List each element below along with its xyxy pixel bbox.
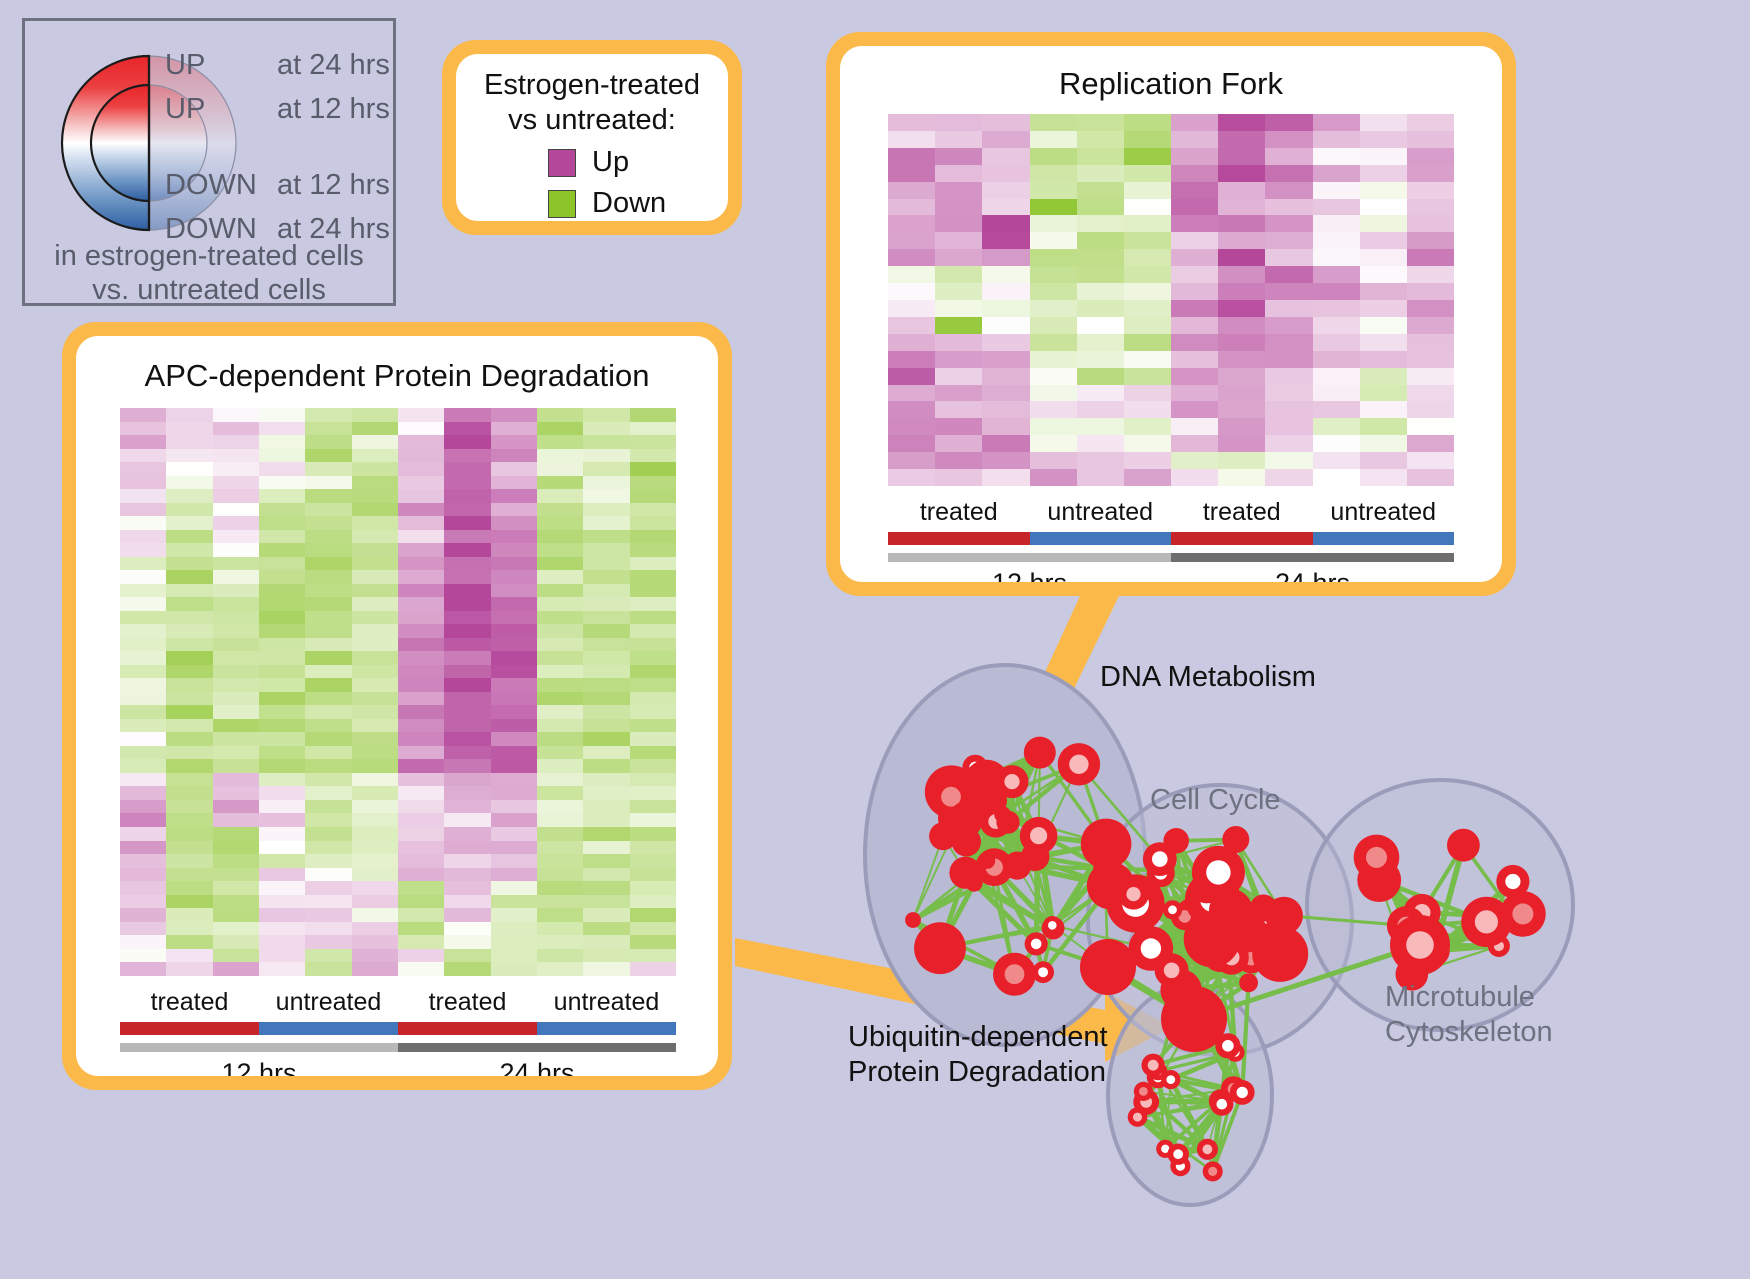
- network-node[interactable]: [1161, 986, 1227, 1052]
- heatmap-cell: [1171, 283, 1218, 300]
- network-node[interactable]: [950, 802, 979, 831]
- network-node[interactable]: [1024, 737, 1056, 769]
- network-node[interactable]: [905, 912, 921, 928]
- heatmap-cell: [630, 543, 676, 557]
- heatmap-cell: [1077, 435, 1124, 452]
- heatmap-cell: [444, 503, 490, 517]
- heatmap-cell: [352, 503, 398, 517]
- heatmap-cell: [213, 476, 259, 490]
- heatmap-cell: [352, 868, 398, 882]
- heatmap-cell: [444, 773, 490, 787]
- heatmap-cell: [583, 651, 629, 665]
- heatmap-cell: [120, 895, 166, 909]
- heatmap-cell: [1124, 165, 1171, 182]
- heatmap-cell: [1030, 232, 1077, 249]
- panel-inner: APC-dependent Protein Degradation treate…: [76, 336, 718, 1076]
- heatmap-cell: [491, 570, 537, 584]
- heatmap-cell: [120, 868, 166, 882]
- heatmap-cell: [491, 732, 537, 746]
- heatmap-cell: [352, 624, 398, 638]
- heatmap-cell: [352, 530, 398, 544]
- heatmap-cell: [1407, 165, 1454, 182]
- heatmap-cell: [1030, 300, 1077, 317]
- network-node[interactable]: [952, 827, 981, 856]
- heatmap-cell: [1077, 131, 1124, 148]
- heatmap-cell: [213, 786, 259, 800]
- heatmap-cell: [1407, 283, 1454, 300]
- heatmap-cell: [120, 827, 166, 841]
- heatmap-cell: [305, 692, 351, 706]
- heatmap-cell: [1218, 401, 1265, 418]
- network-node[interactable]: [1252, 926, 1308, 982]
- heatmap-cell: [444, 408, 490, 422]
- estrogen-legend-panel: Estrogen-treated vs untreated: Up Down: [442, 40, 742, 235]
- heatmap-cell: [213, 827, 259, 841]
- heatmap-cell: [444, 705, 490, 719]
- heatmap-cell: [537, 962, 583, 976]
- heatmap-cell: [398, 530, 444, 544]
- network-node[interactable]: [914, 922, 966, 974]
- heatmap-cell: [213, 489, 259, 503]
- legend-caption: in estrogen-treated cells vs. untreated …: [25, 239, 393, 307]
- heatmap-cell: [630, 584, 676, 598]
- heatmap-cell: [1265, 317, 1312, 334]
- heatmap-cell: [935, 300, 982, 317]
- heatmap-cell: [1171, 317, 1218, 334]
- heatmap-cell: [491, 584, 537, 598]
- heatmap-cell: [213, 719, 259, 733]
- cluster-label-dna-metabolism: DNA Metabolism: [1100, 660, 1316, 695]
- heatmap-cell: [630, 895, 676, 909]
- heatmap-cell: [1077, 368, 1124, 385]
- heatmap-cell: [1218, 418, 1265, 435]
- panel-inner: Estrogen-treated vs untreated: Up Down: [456, 54, 728, 221]
- heatmap-cell: [1030, 401, 1077, 418]
- network-node-core: [1203, 1144, 1213, 1154]
- heatmap-cell: [1407, 215, 1454, 232]
- heatmap-cell: [259, 962, 305, 976]
- heatmap-cell: [213, 597, 259, 611]
- heatmap-cell: [1218, 435, 1265, 452]
- heatmap-cell: [305, 827, 351, 841]
- heatmap-cell: [1077, 165, 1124, 182]
- heatmap-cell: [583, 408, 629, 422]
- heatmap-cell: [398, 868, 444, 882]
- heatmap-cell: [583, 922, 629, 936]
- heatmap-cell: [1360, 418, 1407, 435]
- heatmap-cell: [1171, 114, 1218, 131]
- heatmap-cell: [352, 611, 398, 625]
- heatmap-cell: [583, 678, 629, 692]
- heatmap-cell: [305, 543, 351, 557]
- heatmap-cell: [1407, 469, 1454, 486]
- heatmap-cell: [352, 516, 398, 530]
- heatmap-cell: [491, 435, 537, 449]
- network-node-core: [1141, 938, 1161, 958]
- heatmap-cell: [213, 868, 259, 882]
- heatmap-cell: [1171, 165, 1218, 182]
- heatmap-cell: [213, 611, 259, 625]
- heatmap-cell: [888, 266, 935, 283]
- heatmap-cell: [1218, 266, 1265, 283]
- heatmap-cell: [583, 692, 629, 706]
- heatmap-cell: [537, 611, 583, 625]
- heatmap-cell: [982, 283, 1029, 300]
- heatmap-cell: [398, 638, 444, 652]
- heatmap-cell: [305, 800, 351, 814]
- heatmap-cell: [982, 249, 1029, 266]
- heatmap-cell: [120, 638, 166, 652]
- heatmap-cell: [352, 651, 398, 665]
- heatmap-cell: [166, 678, 212, 692]
- heatmap-cell: [491, 813, 537, 827]
- heatmap-cell: [166, 543, 212, 557]
- heatmap-cell: [1030, 317, 1077, 334]
- heatmap-cell: [213, 435, 259, 449]
- heatmap-cell: [1171, 249, 1218, 266]
- heatmap-cell: [537, 732, 583, 746]
- heatmap-cell: [444, 746, 490, 760]
- heatmap-cell: [1265, 300, 1312, 317]
- heatmap-cell: [305, 611, 351, 625]
- heatmap-cell: [398, 449, 444, 463]
- heatmap-cell: [537, 570, 583, 584]
- heatmap-cell: [1265, 148, 1312, 165]
- heatmap-cell: [259, 651, 305, 665]
- heatmap-cell: [1265, 165, 1312, 182]
- heatmap-cell: [1218, 452, 1265, 469]
- network-node[interactable]: [1239, 973, 1258, 992]
- heatmap-cell: [583, 584, 629, 598]
- heatmap-cell: [1077, 401, 1124, 418]
- heatmap-cell: [166, 516, 212, 530]
- heatmap-cell: [444, 935, 490, 949]
- heatmap-cell: [166, 962, 212, 976]
- heatmap-cell: [1360, 283, 1407, 300]
- heatmap-cell: [444, 800, 490, 814]
- heatmap-cell: [1407, 266, 1454, 283]
- heatmap-cell: [1030, 435, 1077, 452]
- network-node[interactable]: [979, 853, 995, 869]
- heatmap-cell: [398, 854, 444, 868]
- heatmap-cell: [305, 949, 351, 963]
- heatmap-cell: [305, 624, 351, 638]
- heatmap-cell: [935, 148, 982, 165]
- heatmap-cell: [259, 570, 305, 584]
- heatmap-cell: [491, 908, 537, 922]
- heatmap-cell: [888, 131, 935, 148]
- network-node-core: [1505, 874, 1520, 889]
- heatmap-cell: [259, 422, 305, 436]
- heatmap-cell: [1407, 452, 1454, 469]
- heatmap-cell: [213, 584, 259, 598]
- heatmap-cell: [120, 435, 166, 449]
- cluster-label-ubiquitin: Ubiquitin-dependent Protein Degradation: [848, 1020, 1108, 1090]
- heatmap-cell: [120, 570, 166, 584]
- heatmap-cell: [305, 516, 351, 530]
- heatmap-cell: [1360, 351, 1407, 368]
- heatmap-cell: [213, 759, 259, 773]
- heatmap-cell: [305, 908, 351, 922]
- heatmap-cell: [491, 651, 537, 665]
- network-node[interactable]: [1447, 829, 1480, 862]
- heatmap-cell: [491, 746, 537, 760]
- heatmap-cell: [1171, 232, 1218, 249]
- heatmap-cell: [213, 705, 259, 719]
- heatmap-cell: [444, 435, 490, 449]
- heatmap-cell: [213, 841, 259, 855]
- heatmap-cell: [444, 854, 490, 868]
- heatmap-cell: [213, 516, 259, 530]
- heatmap-cell: [1360, 334, 1407, 351]
- heatmap-cell: [537, 422, 583, 436]
- heatmap-cell: [1030, 385, 1077, 402]
- heatmap-cell: [259, 746, 305, 760]
- heatmap-cell: [1218, 469, 1265, 486]
- heatmap-cell: [537, 435, 583, 449]
- heatmap-cell: [398, 665, 444, 679]
- legend-item-label: Up: [592, 146, 629, 179]
- heatmap-cell: [1313, 182, 1360, 199]
- apc-condition-labels: treated untreated treated untreated: [120, 988, 676, 1017]
- heatmap-cell: [1124, 401, 1171, 418]
- heatmap-cell: [352, 476, 398, 490]
- heatmap-cell: [583, 543, 629, 557]
- heatmap-cell: [888, 401, 935, 418]
- heatmap-cell: [935, 334, 982, 351]
- pathway-network: DNA Metabolism Cell Cycle Microtubule Cy…: [790, 615, 1750, 1279]
- heatmap-grid: [888, 114, 1454, 486]
- heatmap-cell: [1218, 131, 1265, 148]
- heatmap-cell: [583, 800, 629, 814]
- heatmap-cell: [935, 351, 982, 368]
- heatmap-cell: [491, 827, 537, 841]
- heatmap-cell: [982, 182, 1029, 199]
- heatmap-cell: [888, 469, 935, 486]
- heatmap-cell: [305, 773, 351, 787]
- heatmap-cell: [398, 908, 444, 922]
- heatmap-cell: [982, 452, 1029, 469]
- heatmap-cell: [982, 131, 1029, 148]
- heatmap-cell: [935, 317, 982, 334]
- heatmap-cell: [259, 665, 305, 679]
- heatmap-cell: [444, 786, 490, 800]
- heatmap-cell: [259, 868, 305, 882]
- heatmap-cell: [982, 368, 1029, 385]
- heatmap-cell: [491, 489, 537, 503]
- heatmap-cell: [583, 665, 629, 679]
- heatmap-cell: [630, 841, 676, 855]
- heatmap-cell: [1360, 435, 1407, 452]
- heatmap-cell: [352, 597, 398, 611]
- heatmap-cell: [444, 611, 490, 625]
- heatmap-cell: [583, 868, 629, 882]
- heatmap-cell: [166, 868, 212, 882]
- heatmap-cell: [1030, 266, 1077, 283]
- legend-value: at 12 hrs: [277, 95, 390, 124]
- heatmap-cell: [888, 418, 935, 435]
- heatmap-cell: [1124, 131, 1171, 148]
- legend-row-up-24hrs: UP at 24 hrs: [165, 51, 390, 80]
- heatmap-cell: [120, 611, 166, 625]
- heatmap-cell: [583, 557, 629, 571]
- heatmap-cell: [352, 732, 398, 746]
- heatmap-cell: [444, 759, 490, 773]
- heatmap-cell: [630, 908, 676, 922]
- heatmap-cell: [120, 813, 166, 827]
- heatmap-cell: [1313, 249, 1360, 266]
- heatmap-cell: [982, 215, 1029, 232]
- legend-item-up: Up: [548, 146, 629, 179]
- heatmap-cell: [888, 300, 935, 317]
- heatmap-cell: [1360, 452, 1407, 469]
- network-node-core: [1512, 903, 1533, 924]
- heatmap-cell: [583, 462, 629, 476]
- heatmap-cell: [444, 638, 490, 652]
- heatmap-cell: [630, 651, 676, 665]
- heatmap-cell: [537, 746, 583, 760]
- heatmap-cell: [537, 449, 583, 463]
- heatmap-cell: [537, 922, 583, 936]
- network-node-core: [1166, 1075, 1175, 1084]
- heatmap-cell: [305, 786, 351, 800]
- replication-fork-heatmap: [888, 114, 1454, 486]
- heatmap-cell: [630, 868, 676, 882]
- heatmap-cell: [888, 452, 935, 469]
- legend-row-up-12hrs: UP at 12 hrs: [165, 95, 390, 124]
- heatmap-cell: [305, 895, 351, 909]
- network-node-core: [1237, 1087, 1248, 1098]
- heatmap-cell: [1360, 385, 1407, 402]
- heatmap-cell: [491, 719, 537, 733]
- heatmap-cell: [888, 232, 935, 249]
- heatmap-cell: [398, 489, 444, 503]
- heatmap-cell: [444, 881, 490, 895]
- heatmap-cell: [1313, 368, 1360, 385]
- heatmap-cell: [305, 813, 351, 827]
- heatmap-cell: [305, 746, 351, 760]
- heatmap-cell: [1265, 232, 1312, 249]
- heatmap-cell: [1077, 232, 1124, 249]
- heatmap-cell: [1030, 249, 1077, 266]
- heatmap-cell: [630, 530, 676, 544]
- heatmap-cell: [1407, 317, 1454, 334]
- heatmap-cell: [537, 665, 583, 679]
- network-node[interactable]: [1222, 826, 1249, 853]
- heatmap-cell: [1407, 300, 1454, 317]
- network-node[interactable]: [996, 811, 1019, 834]
- heatmap-cell: [166, 651, 212, 665]
- heatmap-cell: [305, 962, 351, 976]
- panel-inner: Replication Fork treated untreated treat…: [840, 46, 1502, 582]
- heatmap-cell: [120, 597, 166, 611]
- heatmap-cell: [352, 854, 398, 868]
- heatmap-cell: [352, 759, 398, 773]
- heatmap-cell: [444, 557, 490, 571]
- heatmap-cell: [352, 678, 398, 692]
- heatmap-cell: [491, 895, 537, 909]
- heatmap-cell: [213, 732, 259, 746]
- heatmap-cell: [398, 435, 444, 449]
- heatmap-cell: [120, 854, 166, 868]
- heatmap-cell: [888, 317, 935, 334]
- heatmap-cell: [120, 922, 166, 936]
- network-node-core: [1038, 967, 1048, 977]
- heatmap-cell: [1030, 469, 1077, 486]
- heatmap-cell: [1077, 300, 1124, 317]
- heatmap-cell: [630, 422, 676, 436]
- network-node-core: [1475, 910, 1498, 933]
- heatmap-cell: [1265, 215, 1312, 232]
- heatmap-cell: [120, 732, 166, 746]
- heatmap-cell: [583, 854, 629, 868]
- heatmap-cell: [1407, 351, 1454, 368]
- heatmap-cell: [491, 530, 537, 544]
- apc-time-labels: 12 hrs 24 hrs: [120, 1058, 676, 1076]
- down-color-swatch: [548, 190, 576, 218]
- heatmap-cell: [305, 854, 351, 868]
- network-node[interactable]: [1081, 819, 1132, 870]
- heatmap-cell: [1171, 452, 1218, 469]
- heatmap-cell: [1124, 385, 1171, 402]
- heatmap-cell: [583, 611, 629, 625]
- heatmap-cell: [398, 732, 444, 746]
- heatmap-cell: [583, 746, 629, 760]
- heatmap-cell: [444, 732, 490, 746]
- heatmap-cell: [259, 557, 305, 571]
- heatmap-cell: [1360, 182, 1407, 199]
- heatmap-cell: [1265, 114, 1312, 131]
- heatmap-cell: [166, 705, 212, 719]
- heatmap-cell: [166, 665, 212, 679]
- heatmap-cell: [398, 476, 444, 490]
- heatmap-cell: [259, 895, 305, 909]
- heatmap-cell: [583, 516, 629, 530]
- condition-label: untreated: [1030, 498, 1172, 527]
- heatmap-cell: [352, 705, 398, 719]
- heatmap-cell: [491, 462, 537, 476]
- heatmap-cell: [305, 732, 351, 746]
- time-label: 12 hrs: [120, 1058, 398, 1076]
- heatmap-cell: [166, 786, 212, 800]
- heatmap-cell: [305, 881, 351, 895]
- heatmap-cell: [1407, 435, 1454, 452]
- heatmap-cell: [213, 557, 259, 571]
- time-label: 24 hrs: [1171, 568, 1454, 582]
- heatmap-cell: [1407, 418, 1454, 435]
- heatmap-cell: [166, 922, 212, 936]
- heatmap-cell: [444, 651, 490, 665]
- heatmap-cell: [120, 881, 166, 895]
- heatmap-cell: [630, 503, 676, 517]
- heatmap-cell: [305, 489, 351, 503]
- heatmap-cell: [305, 719, 351, 733]
- heatmap-cell: [982, 114, 1029, 131]
- legend-key: UP: [165, 95, 277, 124]
- replication-fork-title: Replication Fork: [840, 66, 1502, 102]
- network-node-core: [1030, 827, 1047, 844]
- heatmap-cell: [1313, 131, 1360, 148]
- heatmap-cell: [491, 422, 537, 436]
- heatmap-cell: [537, 705, 583, 719]
- heatmap-cell: [444, 449, 490, 463]
- heatmap-cell: [398, 408, 444, 422]
- heatmap-cell: [259, 611, 305, 625]
- heatmap-cell: [398, 827, 444, 841]
- network-node[interactable]: [1080, 939, 1136, 995]
- network-node[interactable]: [1003, 852, 1031, 880]
- network-node[interactable]: [1265, 897, 1303, 935]
